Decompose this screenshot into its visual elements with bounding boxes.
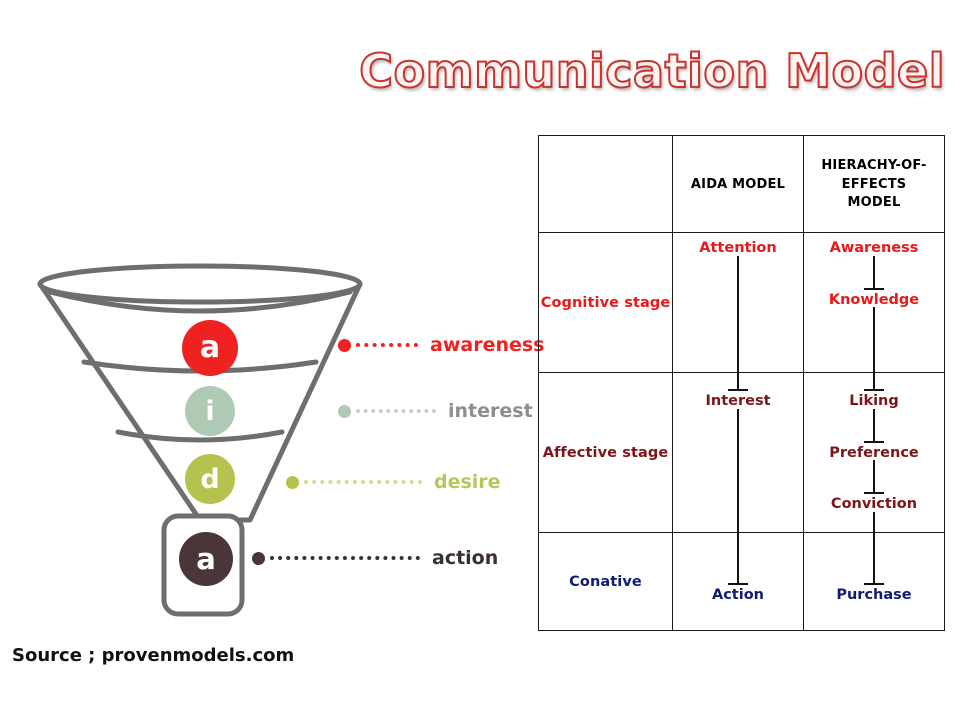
step-label-purchase: Purchase <box>836 588 911 603</box>
cell-aida-cognitive: Attention <box>673 233 804 373</box>
funnel-badge-letter: a <box>196 545 216 574</box>
legend-item-action: action <box>252 547 498 569</box>
step-label-knowledge: Knowledge <box>829 293 919 308</box>
legend-label-interest: interest <box>448 400 533 422</box>
step-label-awareness: Awareness <box>830 241 919 256</box>
cell-hierarchy-affective: Liking Preference Conviction <box>804 373 945 533</box>
legend-dashes <box>270 556 420 560</box>
legend-dashes <box>304 480 422 484</box>
connector-line <box>737 533 739 585</box>
connector-line <box>873 460 875 494</box>
funnel-badge-letter: a <box>200 333 220 363</box>
step-label-liking: Liking <box>849 394 899 409</box>
header-label-hierarchy-line1: HIERACHY-OF- <box>821 158 926 173</box>
communication-model-table: AIDA MODEL HIERACHY-OF- EFFECTS MODEL Co… <box>538 135 945 631</box>
funnel-badge-awareness: a <box>182 320 238 376</box>
legend-dot-action <box>252 552 265 565</box>
header-label-aida: AIDA MODEL <box>691 177 785 192</box>
connector-line <box>873 409 875 443</box>
header-cell-stage <box>539 136 673 233</box>
funnel-badge-action: a <box>179 532 233 586</box>
legend-label-action: action <box>432 547 498 569</box>
step-label-action: Action <box>712 588 764 603</box>
stage-label-affective: Affective stage <box>543 445 669 461</box>
cell-aida-conative: Action <box>673 533 804 631</box>
table-header-row: AIDA MODEL HIERACHY-OF- EFFECTS MODEL <box>539 136 945 233</box>
funnel-top-rim-outer <box>40 266 360 302</box>
header-label-hierarchy-line2: EFFECTS <box>842 177 907 192</box>
stage-label-cognitive: Cognitive stage <box>541 295 671 311</box>
legend-item-awareness: awareness <box>338 334 544 356</box>
connector-line <box>873 373 875 391</box>
connector-line <box>737 256 739 373</box>
legend-dot-interest <box>338 405 351 418</box>
legend-dot-desire <box>286 476 299 489</box>
legend-dashes <box>356 343 418 347</box>
legend-label-awareness: awareness <box>430 334 544 356</box>
connector-line <box>873 256 875 290</box>
step-label-attention: Attention <box>699 241 776 256</box>
page-title: Communication Model <box>0 44 945 98</box>
funnel-badge-interest: i <box>185 386 235 436</box>
table-row-conative: Conative Action Purchase <box>539 533 945 631</box>
connector-line <box>873 512 875 533</box>
connector-line <box>873 533 875 585</box>
step-label-conviction: Conviction <box>831 497 917 512</box>
connector-line <box>737 409 739 533</box>
cell-stage-affective: Affective stage <box>539 373 673 533</box>
cell-aida-affective: Interest <box>673 373 804 533</box>
header-cell-hierarchy: HIERACHY-OF- EFFECTS MODEL <box>804 136 945 233</box>
header-label-hierarchy-line3: MODEL <box>848 195 901 210</box>
funnel-badge-letter: i <box>205 398 214 425</box>
legend-dashes <box>356 409 436 413</box>
header-cell-aida: AIDA MODEL <box>673 136 804 233</box>
source-credit: Source ; provenmodels.com <box>12 645 294 666</box>
connector-line <box>873 307 875 372</box>
cell-hierarchy-conative: Purchase <box>804 533 945 631</box>
cell-stage-cognitive: Cognitive stage <box>539 233 673 373</box>
legend-item-desire: desire <box>286 471 501 493</box>
legend-label-desire: desire <box>434 471 501 493</box>
step-label-interest: Interest <box>705 394 770 409</box>
table-row-affective: Affective stage Interest Liking Preferen… <box>539 373 945 533</box>
cell-stage-conative: Conative <box>539 533 673 631</box>
cell-hierarchy-cognitive: Awareness Knowledge <box>804 233 945 373</box>
stage-label-conative: Conative <box>569 574 642 590</box>
table-row-cognitive: Cognitive stage Attention Awareness Know… <box>539 233 945 373</box>
step-label-preference: Preference <box>829 446 919 461</box>
funnel-badge-letter: d <box>200 466 219 493</box>
legend-dot-awareness <box>338 339 351 352</box>
legend-item-interest: interest <box>338 400 533 422</box>
funnel-badge-desire: d <box>185 454 235 504</box>
connector-line <box>737 373 739 391</box>
